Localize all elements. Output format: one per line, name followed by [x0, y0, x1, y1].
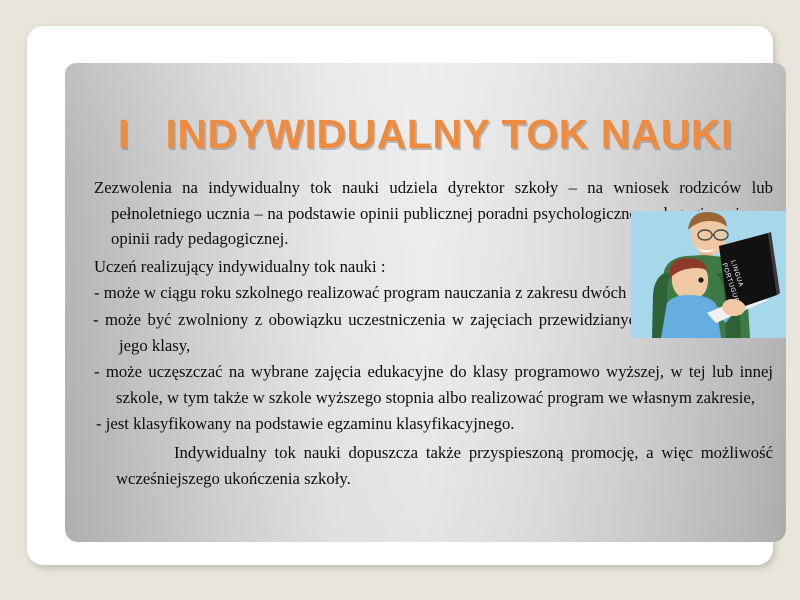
list-item-bullet-3: - może uczęszczać na wybrane zajęcia edu…	[79, 359, 773, 410]
reading-illustration: LINGUA PORTUGUESA	[631, 211, 786, 338]
child-eye	[698, 277, 703, 282]
slide-frame: I INDYWIDUALNY TOK NAUKI Zezwolenia na i…	[27, 26, 773, 565]
list-item-bullet-4: - jest klasyfikowany na podstawie egzami…	[79, 411, 773, 437]
reading-illustration-svg: LINGUA PORTUGUESA	[631, 211, 786, 338]
slide-content-panel: I INDYWIDUALNY TOK NAUKI Zezwolenia na i…	[65, 63, 786, 542]
slide-root: I INDYWIDUALNY TOK NAUKI Zezwolenia na i…	[0, 0, 800, 600]
paragraph-closing: Indywidualny tok nauki dopuszcza także p…	[79, 440, 773, 491]
page-title: I INDYWIDUALNY TOK NAUKI	[65, 111, 786, 158]
